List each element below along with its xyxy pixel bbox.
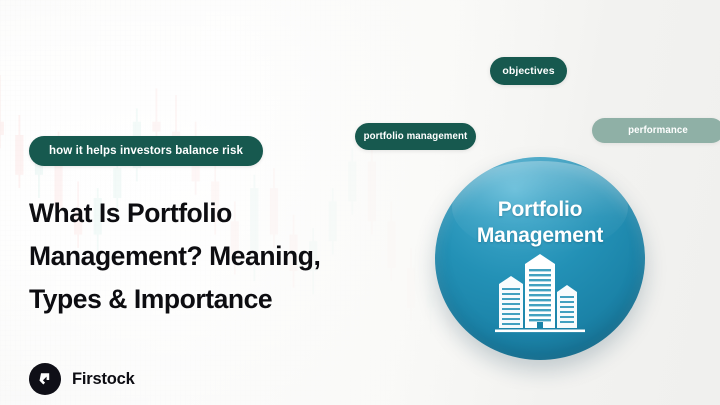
brand-name: Firstock bbox=[72, 370, 135, 389]
city-buildings-icon bbox=[493, 250, 587, 334]
blog-banner: how it helps investors balance risk What… bbox=[0, 0, 720, 405]
keyword-pill-objectives: objectives bbox=[490, 57, 567, 85]
brand-logo: Firstock bbox=[29, 363, 135, 395]
page-title: What Is Portfolio Management? Meaning, T… bbox=[29, 192, 429, 321]
badge-title-line-2: Management bbox=[435, 223, 645, 249]
eyebrow-pill: how it helps investors balance risk bbox=[29, 136, 263, 166]
badge-title-line-1: Portfolio bbox=[435, 197, 645, 223]
keyword-pill-portfolio-management: portfolio management bbox=[355, 123, 476, 150]
keyword-pill-performance: performance bbox=[592, 118, 720, 143]
headline-line-2: Management? Meaning, bbox=[29, 235, 429, 278]
portfolio-management-badge: Portfolio Management bbox=[435, 157, 645, 360]
headline-line-3: Types & Importance bbox=[29, 278, 429, 321]
badge-title: Portfolio Management bbox=[435, 197, 645, 248]
headline-line-1: What Is Portfolio bbox=[29, 192, 429, 235]
arrow-flag-icon bbox=[29, 363, 61, 395]
